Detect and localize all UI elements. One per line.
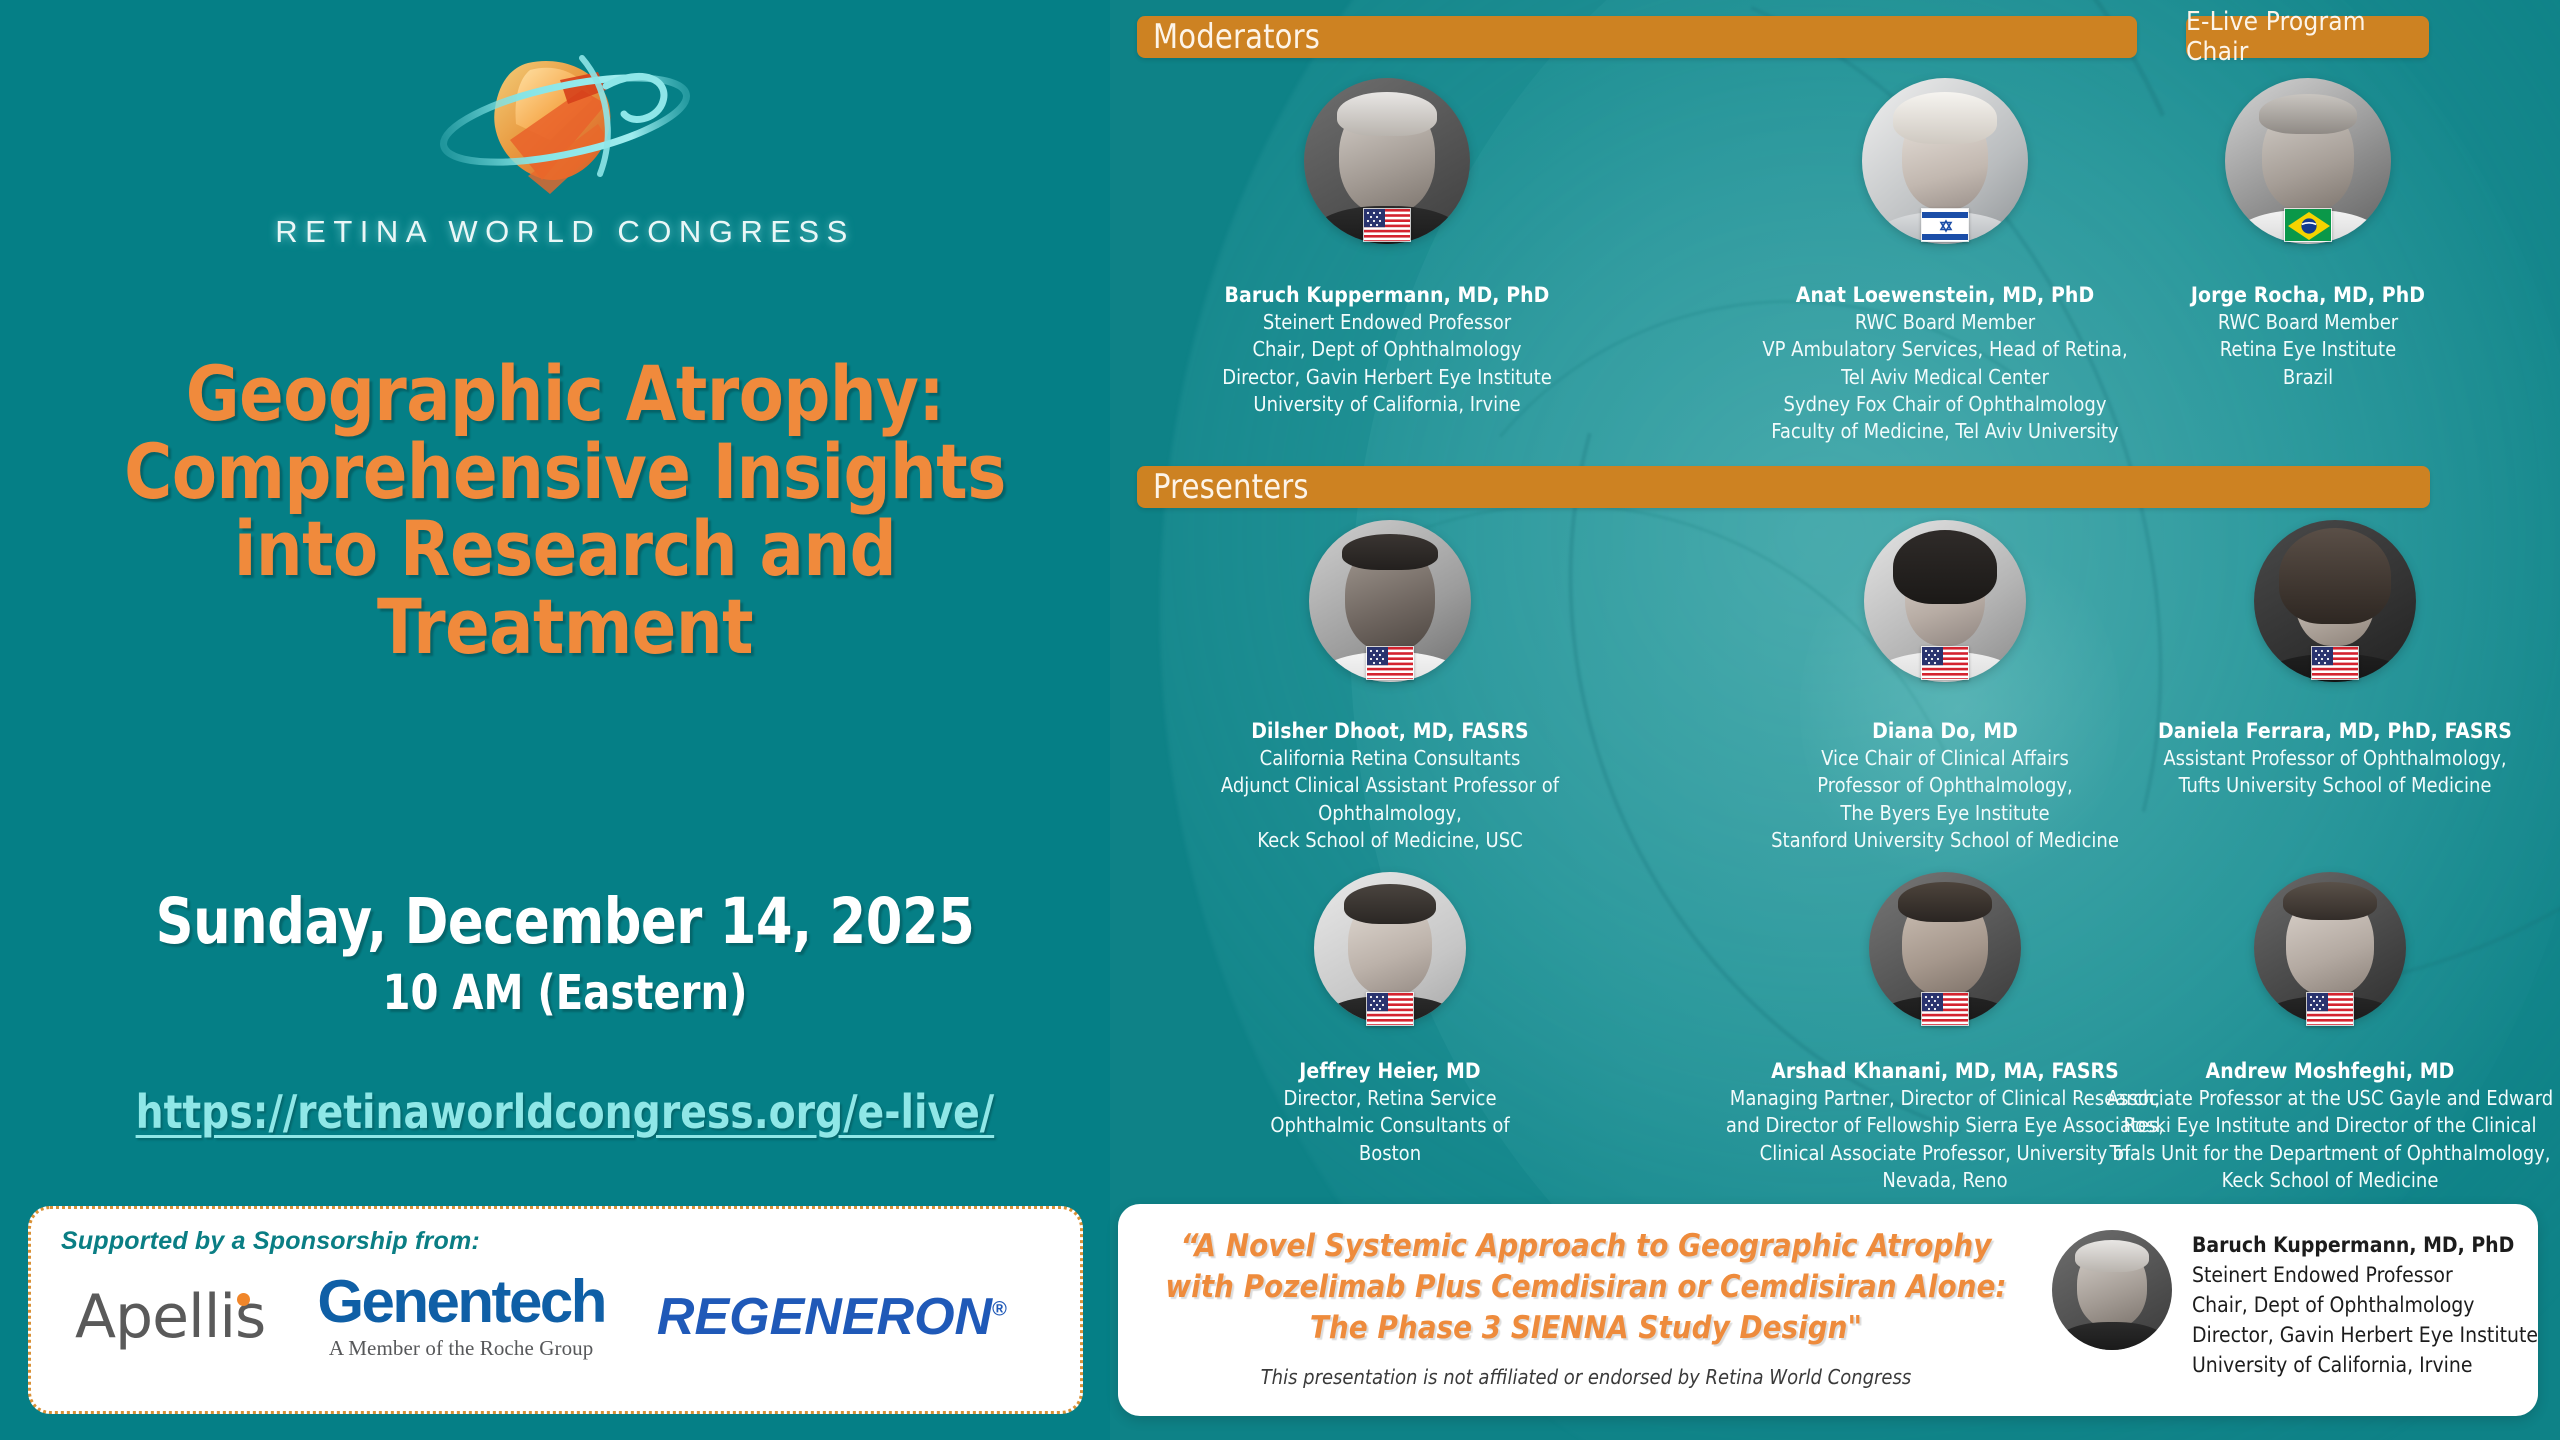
affiliation-line: Ophthalmic Consultants of xyxy=(1205,1112,1575,1139)
person-affiliation: California Retina Consultants Adjunct Cl… xyxy=(1205,745,1575,855)
left-panel: RETINA WORLD CONGRESS Geographic Atrophy… xyxy=(0,0,1130,1440)
affiliation-line: Keck School of Medicine, USC xyxy=(1205,827,1575,854)
moderator-card: Anat Loewenstein, MD, PhD RWC Board Memb… xyxy=(1645,78,2245,446)
moderators-label: Moderators xyxy=(1153,17,1320,57)
affiliation-line: Boston xyxy=(1205,1140,1575,1167)
us-flag-icon xyxy=(1921,992,1969,1026)
moderator-card: Baruch Kuppermann, MD, PhD Steinert Endo… xyxy=(1187,78,1587,418)
us-flag-icon xyxy=(1363,208,1411,242)
registered-trademark-icon: ® xyxy=(992,1298,1007,1320)
speaker-affiliation-line: Steinert Endowed Professor xyxy=(2192,1260,2538,1290)
genentech-tagline: A Member of the Roche Group xyxy=(329,1336,594,1361)
affiliation-line: Assistant Professor of Ophthalmology, xyxy=(2135,745,2535,772)
affiliation-line: RWC Board Member xyxy=(1645,309,2245,336)
person-affiliation: Vice Chair of Clinical Affairs Professor… xyxy=(1760,745,2130,855)
person-name: Anat Loewenstein, MD, PhD xyxy=(1645,282,2245,309)
event-date: Sunday, December 14, 2025 xyxy=(58,885,1072,958)
presentation-title-line: “A Novel Systemic Approach to Geographic… xyxy=(1136,1226,2036,1267)
presenter-card: Diana Do, MD Vice Chair of Clinical Affa… xyxy=(1760,520,2130,854)
speaker-name: Baruch Kuppermann, MD, PhD xyxy=(2192,1230,2538,1260)
person-name: Daniela Ferrara, MD, PhD, FASRS xyxy=(2135,718,2535,745)
us-flag-icon xyxy=(1366,992,1414,1026)
affiliation-line: Sydney Fox Chair of Ophthalmology xyxy=(1645,391,2245,418)
regeneron-logo-text: REGENERON xyxy=(657,1288,992,1346)
section-header-presenters: Presenters xyxy=(1137,466,2430,508)
person-name: Andrew Moshfeghi, MD xyxy=(2100,1058,2560,1085)
retina-world-congress-logo-icon xyxy=(410,28,720,208)
affiliation-line: Brazil xyxy=(2173,364,2443,391)
apellis-logo-text: Apellis xyxy=(75,1282,265,1352)
presenters-label: Presenters xyxy=(1153,467,1309,507)
affiliation-line: Tel Aviv Medical Center xyxy=(1645,364,2245,391)
affiliation-line: Adjunct Clinical Assistant Professor of xyxy=(1205,772,1575,799)
avatar xyxy=(2052,1230,2172,1350)
apellis-dot-icon xyxy=(237,1293,250,1306)
affiliation-line: Trials Unit for the Department of Ophtha… xyxy=(2100,1140,2560,1167)
us-flag-icon xyxy=(2311,646,2359,680)
presenter-card: Dilsher Dhoot, MD, FASRS California Reti… xyxy=(1205,520,1575,854)
genentech-logo-text: Genentech xyxy=(317,1272,605,1332)
brazil-flag-icon xyxy=(2284,208,2332,242)
elive-chair-card: Jorge Rocha, MD, PhD RWC Board Member Re… xyxy=(2173,78,2443,391)
event-title-line-3: into Research and xyxy=(42,510,1088,588)
presentation-title: “A Novel Systemic Approach to Geographic… xyxy=(1136,1226,2036,1349)
affiliation-line: Faculty of Medicine, Tel Aviv University xyxy=(1645,418,2245,445)
apellis-logo: Apellis xyxy=(75,1287,265,1347)
presentation-title-line: The Phase 3 SIENNA Study Design" xyxy=(1136,1308,2036,1349)
person-affiliation: RWC Board Member VP Ambulatory Services,… xyxy=(1645,309,2245,446)
us-flag-icon xyxy=(2306,992,2354,1026)
portrait-photo xyxy=(2052,1230,2172,1350)
israel-flag-icon xyxy=(1921,208,1969,242)
person-affiliation: Steinert Endowed Professor Chair, Dept o… xyxy=(1187,309,1587,419)
speaker-affiliation-line: Director, Gavin Herbert Eye Institute xyxy=(2192,1320,2538,1350)
us-flag-icon xyxy=(1366,646,1414,680)
affiliation-line: Keck School of Medicine xyxy=(2100,1167,2560,1194)
event-title-line-1: Geographic Atrophy: xyxy=(42,355,1088,433)
affiliation-line: Ophthalmology, xyxy=(1205,800,1575,827)
event-title-line-4: Treatment xyxy=(42,588,1088,666)
sponsor-logo-row: Apellis Genentech A Member of the Roche … xyxy=(61,1272,1054,1361)
person-name: Jorge Rocha, MD, PhD xyxy=(2173,282,2443,309)
affiliation-line: Steinert Endowed Professor xyxy=(1187,309,1587,336)
person-affiliation: RWC Board Member Retina Eye Institute Br… xyxy=(2173,309,2443,391)
affiliation-line: Professor of Ophthalmology, xyxy=(1760,772,2130,799)
presentation-disclaimer: This presentation is not affiliated or e… xyxy=(1136,1365,2036,1389)
elive-chair-label: E-Live Program Chair xyxy=(2186,7,2429,67)
presentation-title-block: “A Novel Systemic Approach to Geographic… xyxy=(1118,1204,2046,1416)
section-header-elive-chair: E-Live Program Chair xyxy=(2186,16,2429,58)
event-title-line-2: Comprehensive Insights xyxy=(42,433,1088,511)
brand-logo-block: RETINA WORLD CONGRESS xyxy=(0,28,1130,250)
person-name: Diana Do, MD xyxy=(1760,718,2130,745)
event-time: 10 AM (Eastern) xyxy=(58,965,1072,1021)
genentech-logo: Genentech A Member of the Roche Group xyxy=(317,1272,605,1361)
affiliation-line: California Retina Consultants xyxy=(1205,745,1575,772)
person-name: Dilsher Dhoot, MD, FASRS xyxy=(1205,718,1575,745)
presenter-card: Jeffrey Heier, MD Director, Retina Servi… xyxy=(1205,872,1575,1167)
affiliation-line: The Byers Eye Institute xyxy=(1760,800,2130,827)
presentation-card: “A Novel Systemic Approach to Geographic… xyxy=(1118,1204,2538,1416)
affiliation-line: Director, Retina Service xyxy=(1205,1085,1575,1112)
person-affiliation: Associate Professor at the USC Gayle and… xyxy=(2100,1085,2560,1195)
affiliation-line: Stanford University School of Medicine xyxy=(1760,827,2130,854)
brand-logo-text: RETINA WORLD CONGRESS xyxy=(275,214,855,250)
person-name: Baruch Kuppermann, MD, PhD xyxy=(1187,282,1587,309)
affiliation-line: Vice Chair of Clinical Affairs xyxy=(1760,745,2130,772)
presentation-title-line: with Pozelimab Plus Cemdisiran or Cemdis… xyxy=(1136,1267,2036,1308)
flyer-canvas: RETINA WORLD CONGRESS Geographic Atrophy… xyxy=(0,0,2560,1440)
speaker-affiliation-line: University of California, Irvine xyxy=(2192,1350,2538,1380)
affiliation-line: Tufts University School of Medicine xyxy=(2135,772,2535,799)
presentation-speaker-bio: Baruch Kuppermann, MD, PhD Steinert Endo… xyxy=(2192,1230,2538,1380)
person-affiliation: Assistant Professor of Ophthalmology, Tu… xyxy=(2135,745,2535,800)
affiliation-line: Associate Professor at the USC Gayle and… xyxy=(2100,1085,2560,1112)
person-affiliation: Director, Retina Service Ophthalmic Cons… xyxy=(1205,1085,1575,1167)
event-url-link[interactable]: https://retinaworldcongress.org/e-live/ xyxy=(136,1085,995,1139)
presenter-card: Daniela Ferrara, MD, PhD, FASRS Assistan… xyxy=(2135,520,2535,800)
event-title: Geographic Atrophy: Comprehensive Insigh… xyxy=(42,355,1088,665)
affiliation-line: VP Ambulatory Services, Head of Retina, xyxy=(1645,336,2245,363)
event-url-wrap: https://retinaworldcongress.org/e-live/ xyxy=(20,1085,1110,1139)
affiliation-line: University of California, Irvine xyxy=(1187,391,1587,418)
section-header-moderators: Moderators xyxy=(1137,16,2137,58)
speaker-affiliation-line: Chair, Dept of Ophthalmology xyxy=(2192,1290,2538,1320)
person-name: Jeffrey Heier, MD xyxy=(1205,1058,1575,1085)
affiliation-line: RWC Board Member xyxy=(2173,309,2443,336)
affiliation-line: Director, Gavin Herbert Eye Institute xyxy=(1187,364,1587,391)
sponsor-title: Supported by a Sponsorship from: xyxy=(61,1227,1054,1256)
affiliation-line: Retina Eye Institute xyxy=(2173,336,2443,363)
presentation-speaker-block: Baruch Kuppermann, MD, PhD Steinert Endo… xyxy=(2046,1204,2538,1416)
affiliation-line: Chair, Dept of Ophthalmology xyxy=(1187,336,1587,363)
regeneron-logo: REGENERON® xyxy=(657,1291,1007,1343)
affiliation-line: Roski Eye Institute and Director of the … xyxy=(2100,1112,2560,1139)
sponsor-box: Supported by a Sponsorship from: Apellis… xyxy=(28,1206,1083,1414)
us-flag-icon xyxy=(1921,646,1969,680)
presenter-card: Andrew Moshfeghi, MD Associate Professor… xyxy=(2100,872,2560,1194)
